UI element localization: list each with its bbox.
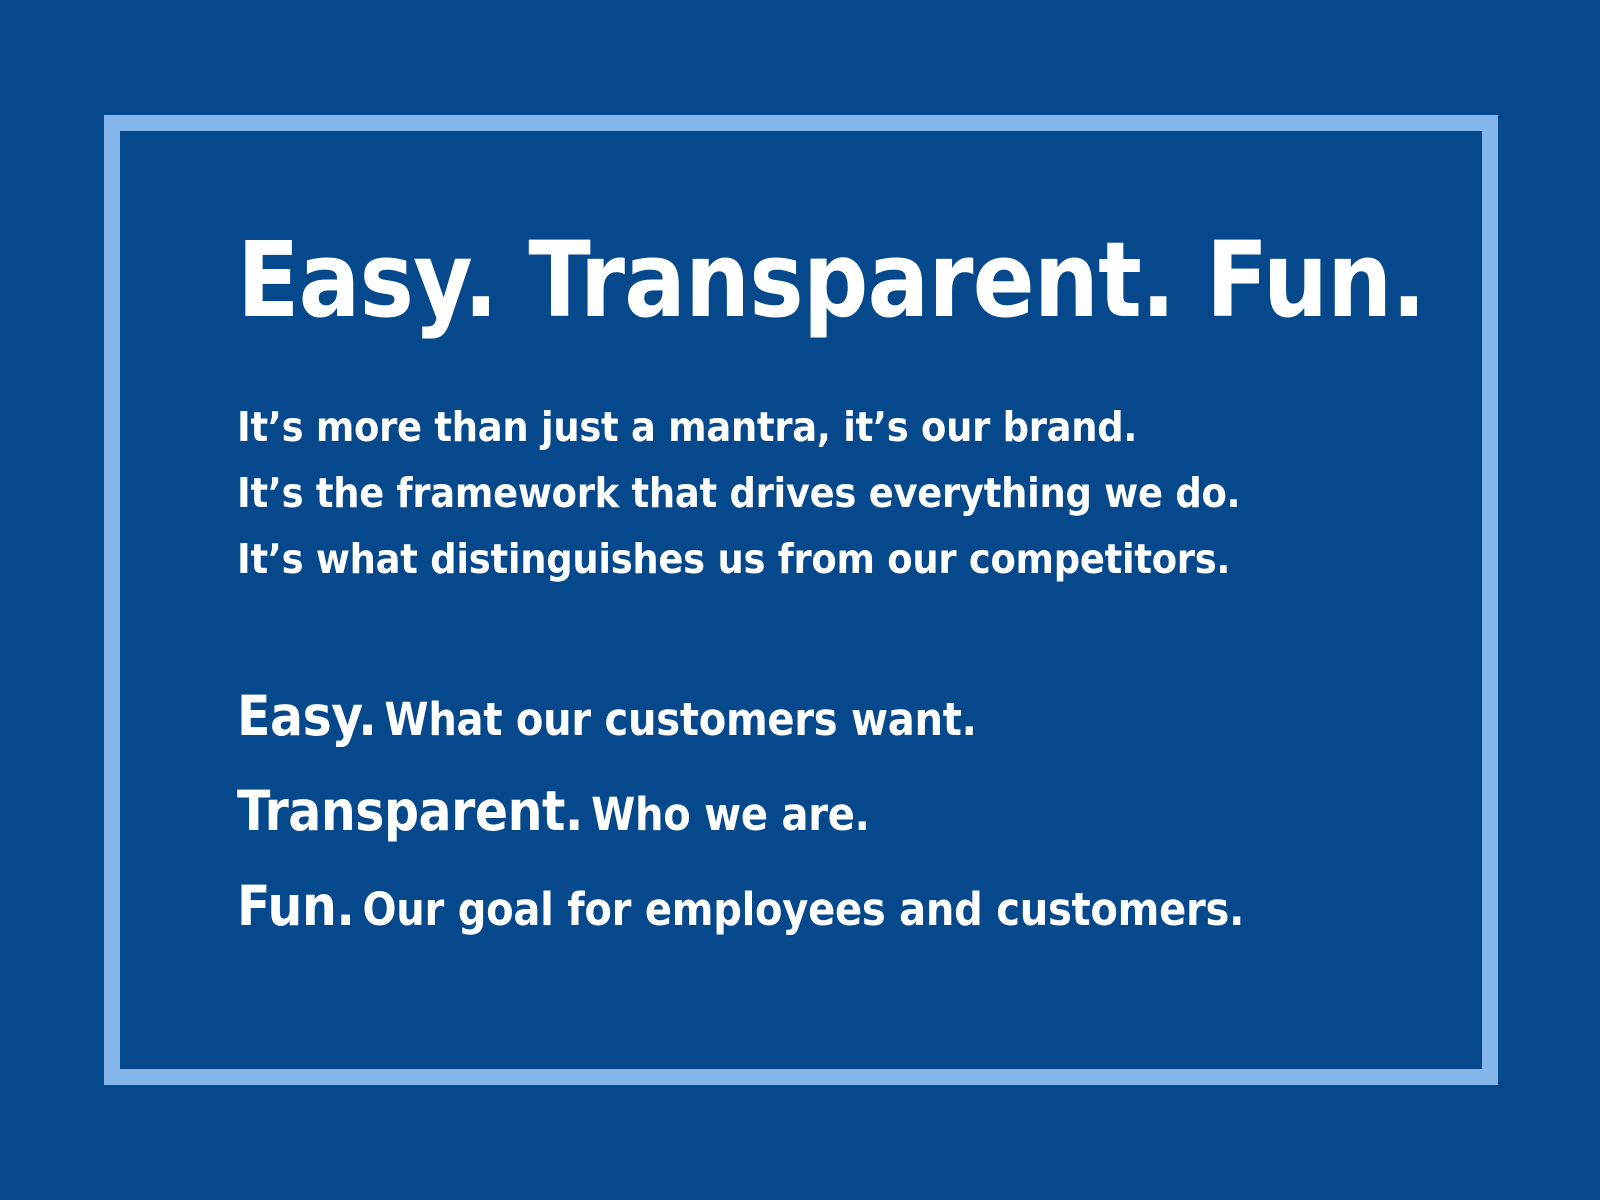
slide-content: Easy. Transparent. Fun. It’s more than j… (237, 228, 1417, 961)
definition-description-fun: Our goal for employees and customers. (355, 883, 1245, 936)
definition-list: Easy.What our customers want. Transparen… (237, 676, 1417, 961)
definition-item-easy: Easy.What our customers want. (237, 676, 1287, 771)
page-title: Easy. Transparent. Fun. (237, 228, 1275, 332)
intro-line-2: It’s the framework that drives everythin… (237, 460, 1299, 526)
definition-item-fun: Fun.Our goal for employees and customers… (237, 866, 1287, 961)
definition-term-easy: Easy. (237, 684, 376, 748)
intro-paragraph: It’s more than just a mantra, it’s our b… (237, 394, 1417, 592)
definition-term-transparent: Transparent. (237, 779, 583, 843)
definition-item-transparent: Transparent.Who we are. (237, 771, 1287, 866)
intro-line-3: It’s what distinguishes us from our comp… (237, 526, 1299, 592)
definition-description-easy: What our customers want. (376, 693, 976, 746)
definition-term-fun: Fun. (237, 874, 355, 938)
definition-description-transparent: Who we are. (583, 788, 869, 841)
slide-canvas: Easy. Transparent. Fun. It’s more than j… (0, 0, 1600, 1200)
intro-line-1: It’s more than just a mantra, it’s our b… (237, 394, 1299, 460)
